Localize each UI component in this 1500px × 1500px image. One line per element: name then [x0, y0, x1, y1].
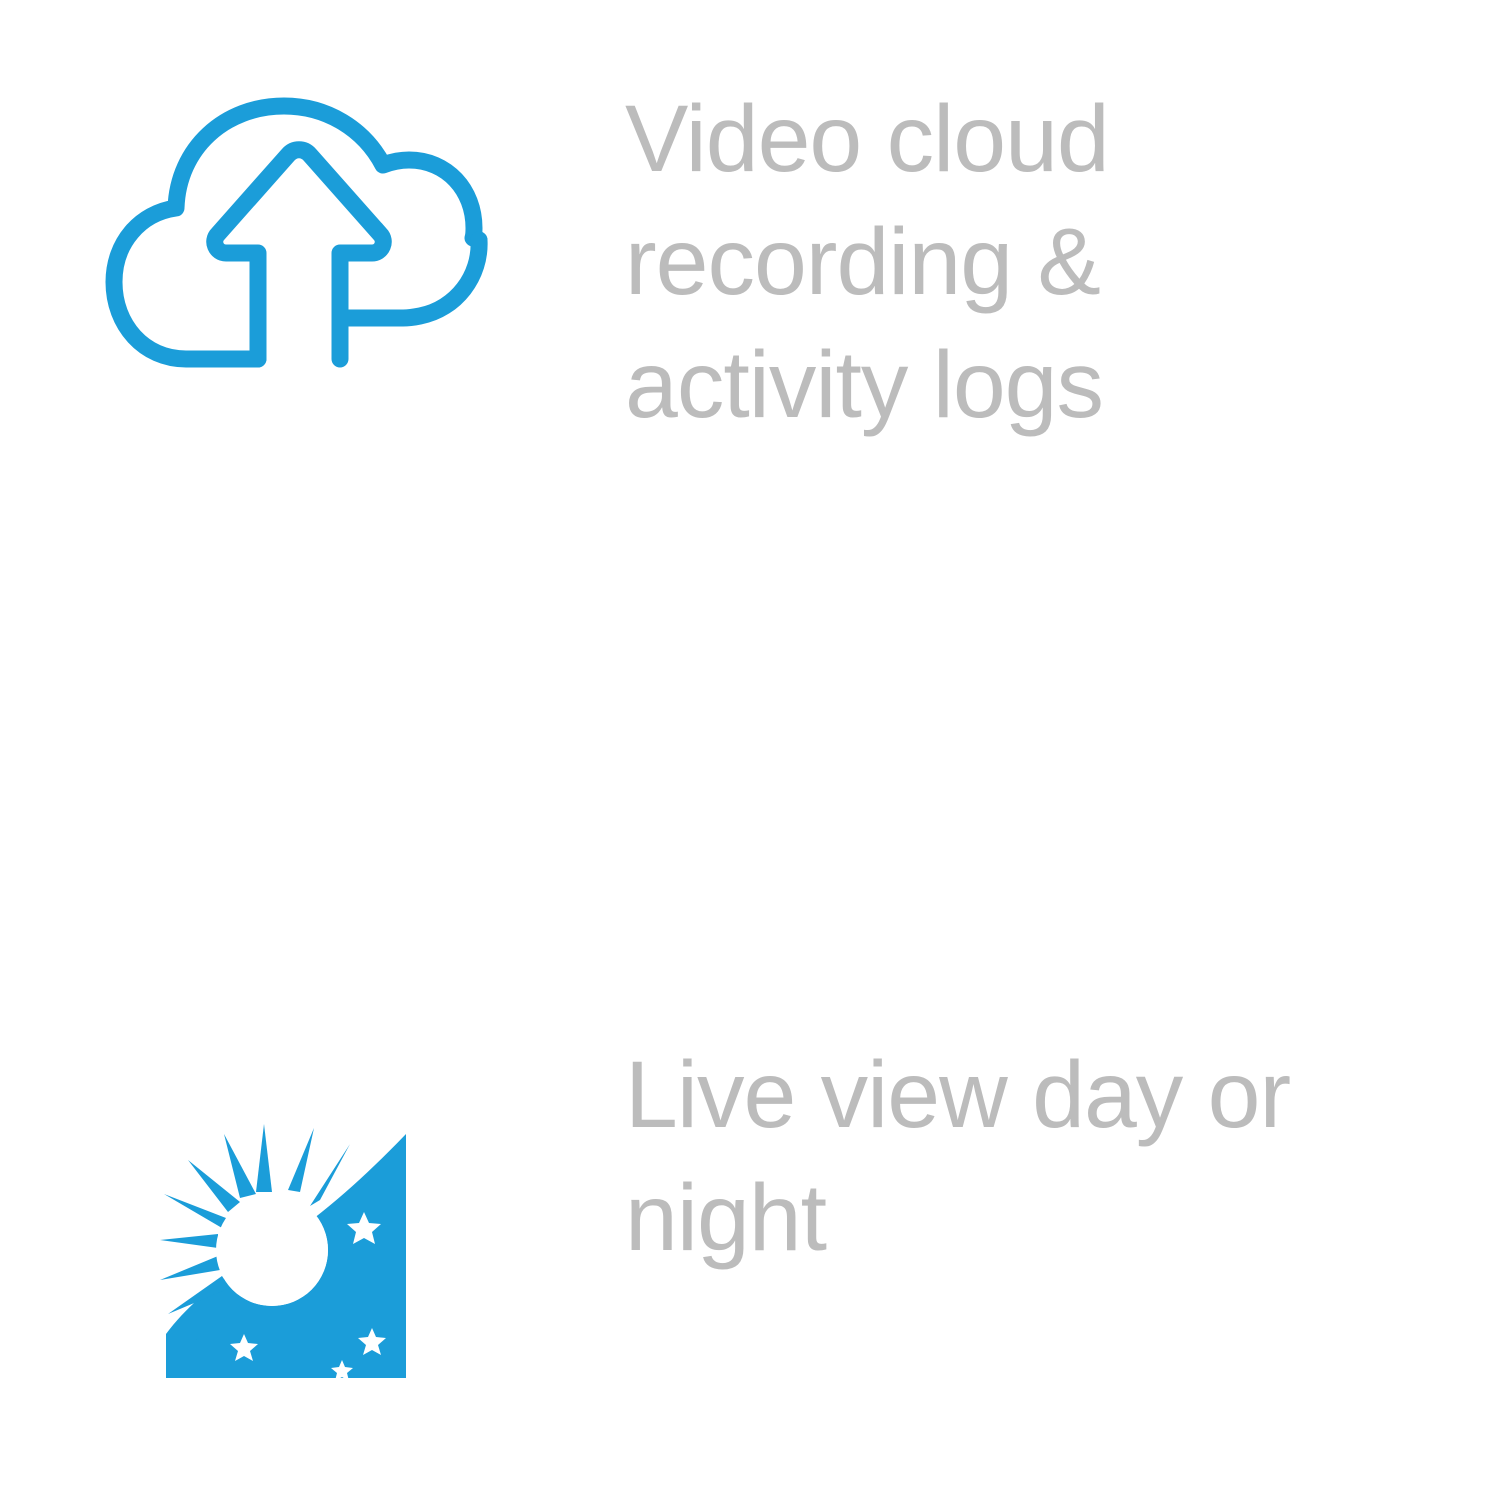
feature-row-standalone-or-era-protect: Used standalone or with ERA Protect alar… [0, 940, 1500, 1500]
feature-row-live-view-day-night: Live view day or night [0, 470, 1500, 940]
feature-list-panel: Video cloud recording & activity logs [0, 0, 1500, 1500]
feature-row-video-cloud-recording: Video cloud recording & activity logs [0, 0, 1500, 470]
cloud-upload-icon [108, 100, 480, 368]
feature-label-video-cloud-recording: Video cloud recording & activity logs [625, 78, 1265, 447]
